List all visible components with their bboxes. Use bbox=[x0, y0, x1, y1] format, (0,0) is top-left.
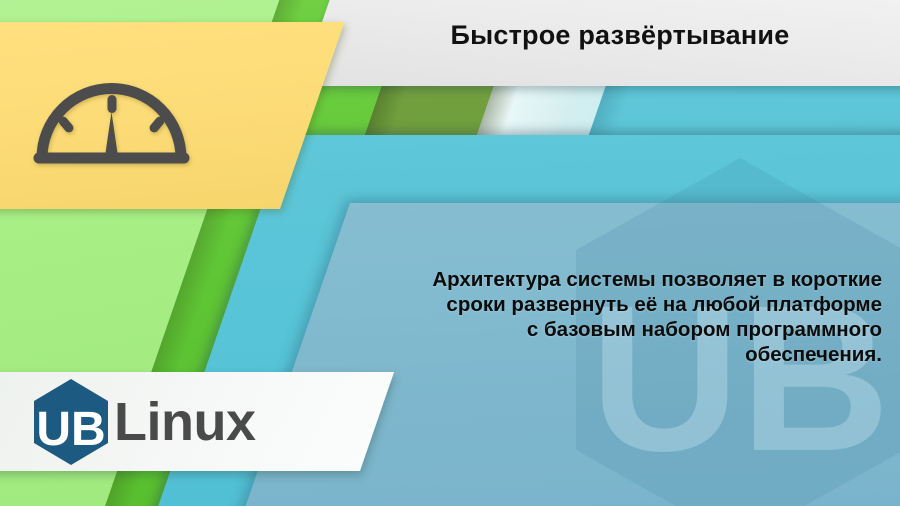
brand-logo: UB Linux bbox=[28, 380, 256, 464]
slide-canvas: UB Быстрое развёртывание Архитектура сис… bbox=[0, 0, 900, 506]
gauge-icon bbox=[30, 62, 193, 167]
ub-hexagon-icon: UB bbox=[28, 377, 114, 467]
svg-text:UB: UB bbox=[36, 403, 105, 456]
logo-wordmark: Linux bbox=[114, 395, 256, 449]
body-paragraph: Архитектура системы позволяет в короткие… bbox=[430, 267, 882, 367]
page-title: Быстрое развёртывание bbox=[360, 20, 880, 51]
